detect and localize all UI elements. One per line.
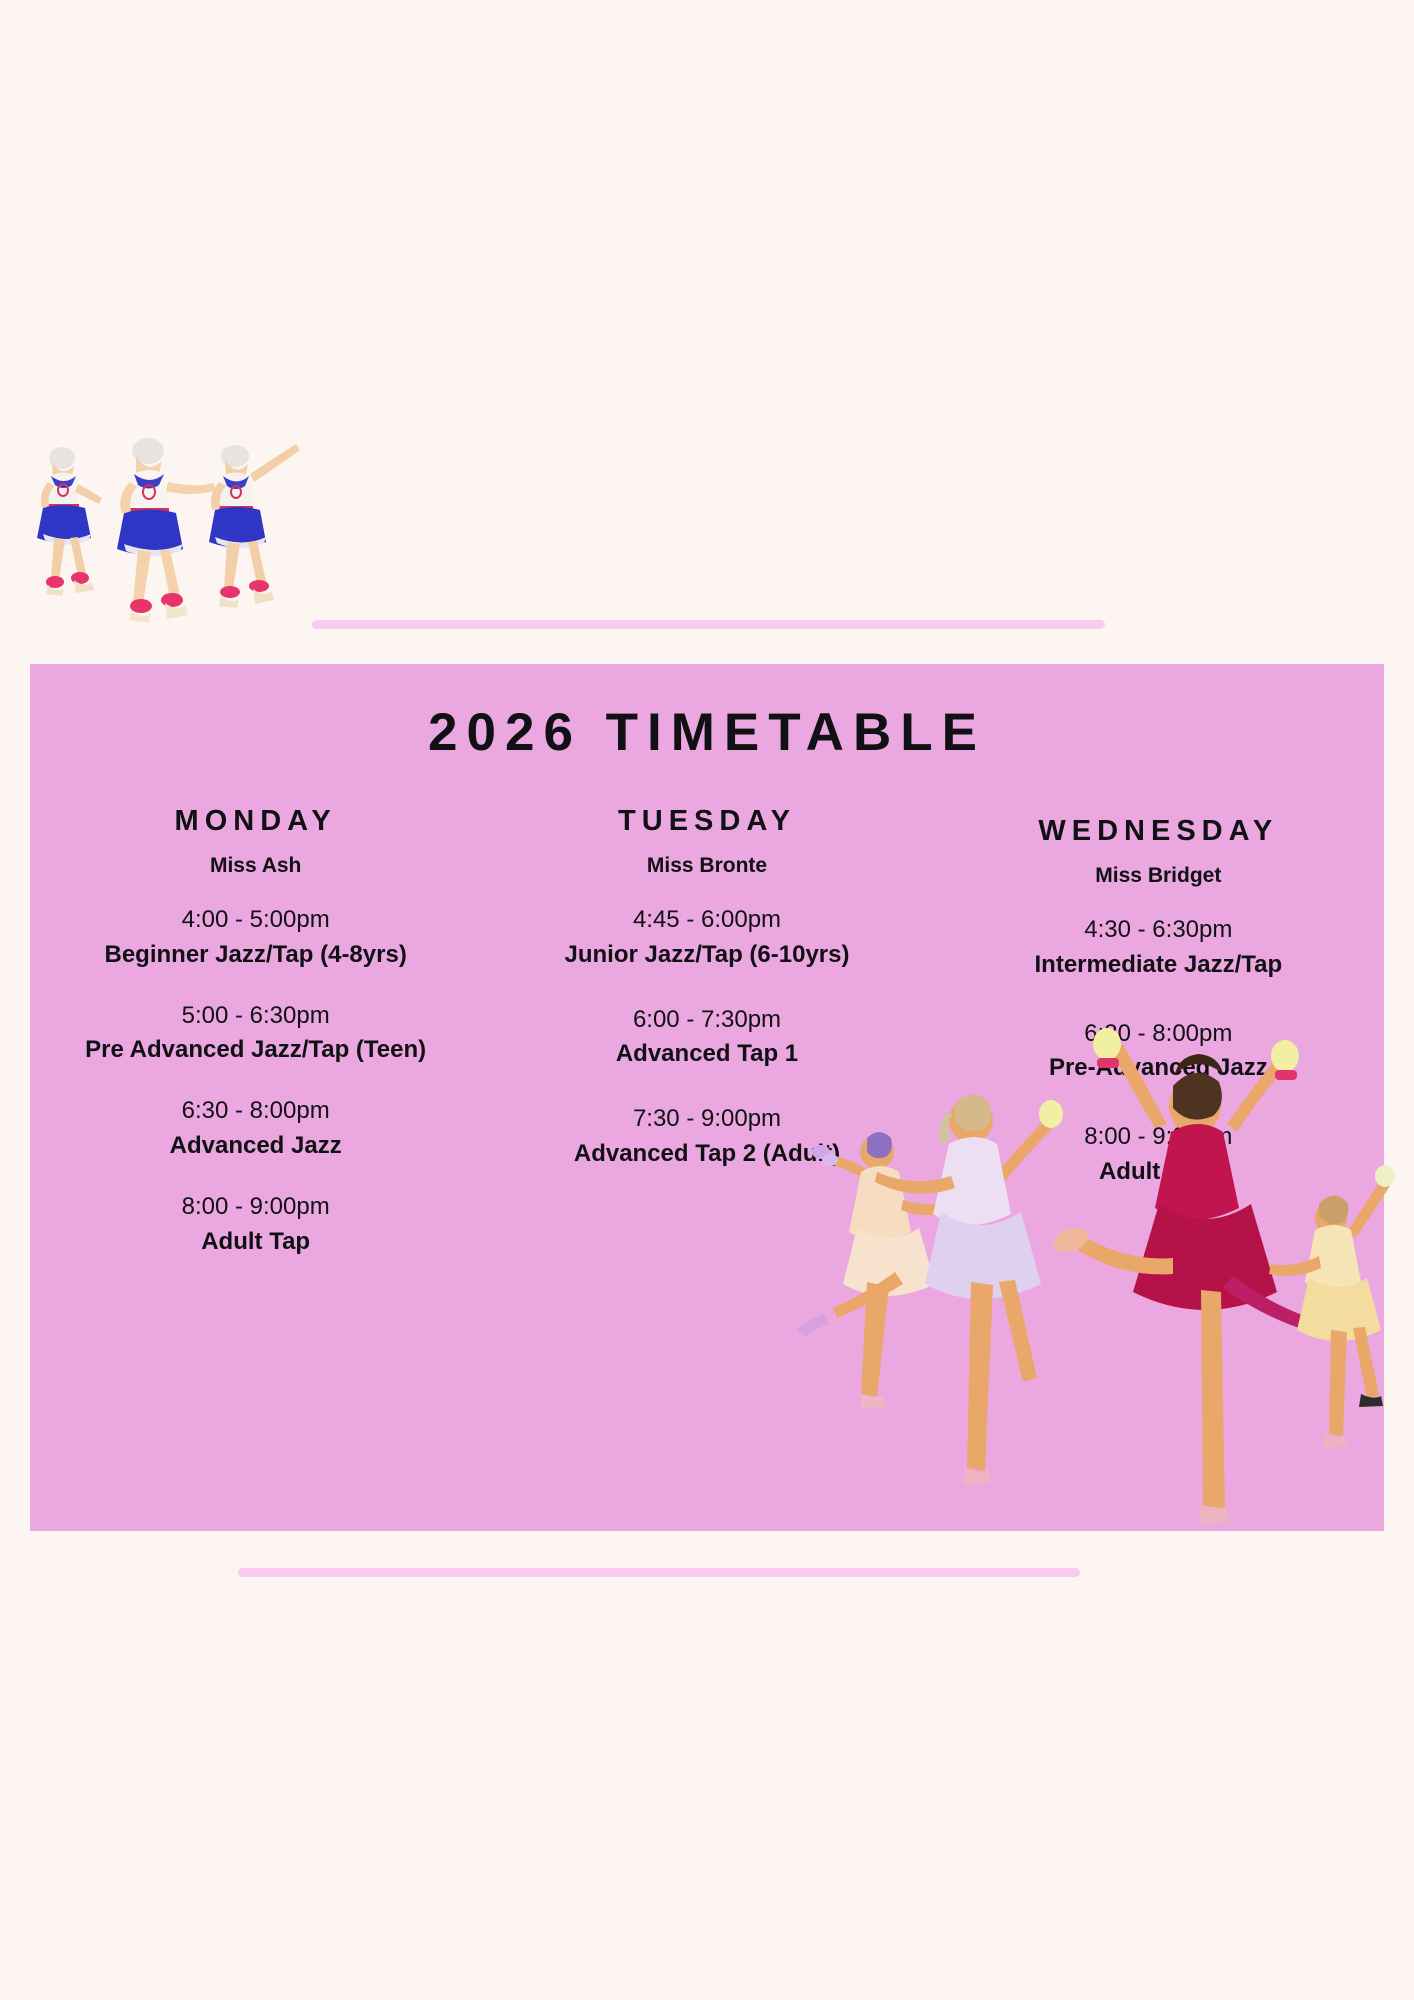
teacher-name-tuesday: Miss Bronte [497, 854, 916, 877]
class-entry: 4:00 - 5:00pm Beginner Jazz/Tap (4-8yrs) [46, 903, 465, 973]
class-name: Beginner Jazz/Tap (4-8yrs) [46, 938, 465, 973]
class-entry: 4:30 - 6:30pm Intermediate Jazz/Tap [949, 913, 1368, 983]
teacher-name-wednesday: Miss Bridget [949, 864, 1368, 887]
day-heading-monday: MONDAY [46, 806, 465, 838]
class-entry: 4:45 - 6:00pm Junior Jazz/Tap (6-10yrs) [497, 903, 916, 973]
class-name: Advanced Jazz [46, 1129, 465, 1164]
child-dancers-photo [10, 430, 310, 635]
class-time: 6:30 - 8:00pm [46, 1094, 465, 1129]
page-title: 2026 TIMETABLE [30, 702, 1384, 763]
class-name: Junior Jazz/Tap (6-10yrs) [497, 938, 916, 973]
class-entry: 6:30 - 8:00pm Advanced Jazz [46, 1094, 465, 1164]
decorative-line-top [312, 620, 1105, 629]
class-time: 4:45 - 6:00pm [497, 903, 916, 938]
class-entry: 5:00 - 6:30pm Pre Advanced Jazz/Tap (Tee… [46, 999, 465, 1069]
day-heading-tuesday: TUESDAY [497, 806, 916, 838]
teacher-name-monday: Miss Ash [46, 854, 465, 877]
class-name: Adult Tap [46, 1225, 465, 1260]
class-time: 8:00 - 9:00pm [46, 1190, 465, 1225]
class-entry: 8:00 - 9:00pm Adult Tap [46, 1190, 465, 1260]
class-time: 4:30 - 6:30pm [949, 913, 1368, 948]
day-column-monday: MONDAY Miss Ash 4:00 - 5:00pm Beginner J… [30, 806, 481, 1285]
adult-dancers-photo [735, 1000, 1414, 1590]
day-heading-wednesday: WEDNESDAY [949, 816, 1368, 848]
class-name: Intermediate Jazz/Tap [949, 948, 1368, 983]
class-time: 5:00 - 6:30pm [46, 999, 465, 1034]
class-name: Pre Advanced Jazz/Tap (Teen) [46, 1033, 465, 1068]
class-time: 4:00 - 5:00pm [46, 903, 465, 938]
